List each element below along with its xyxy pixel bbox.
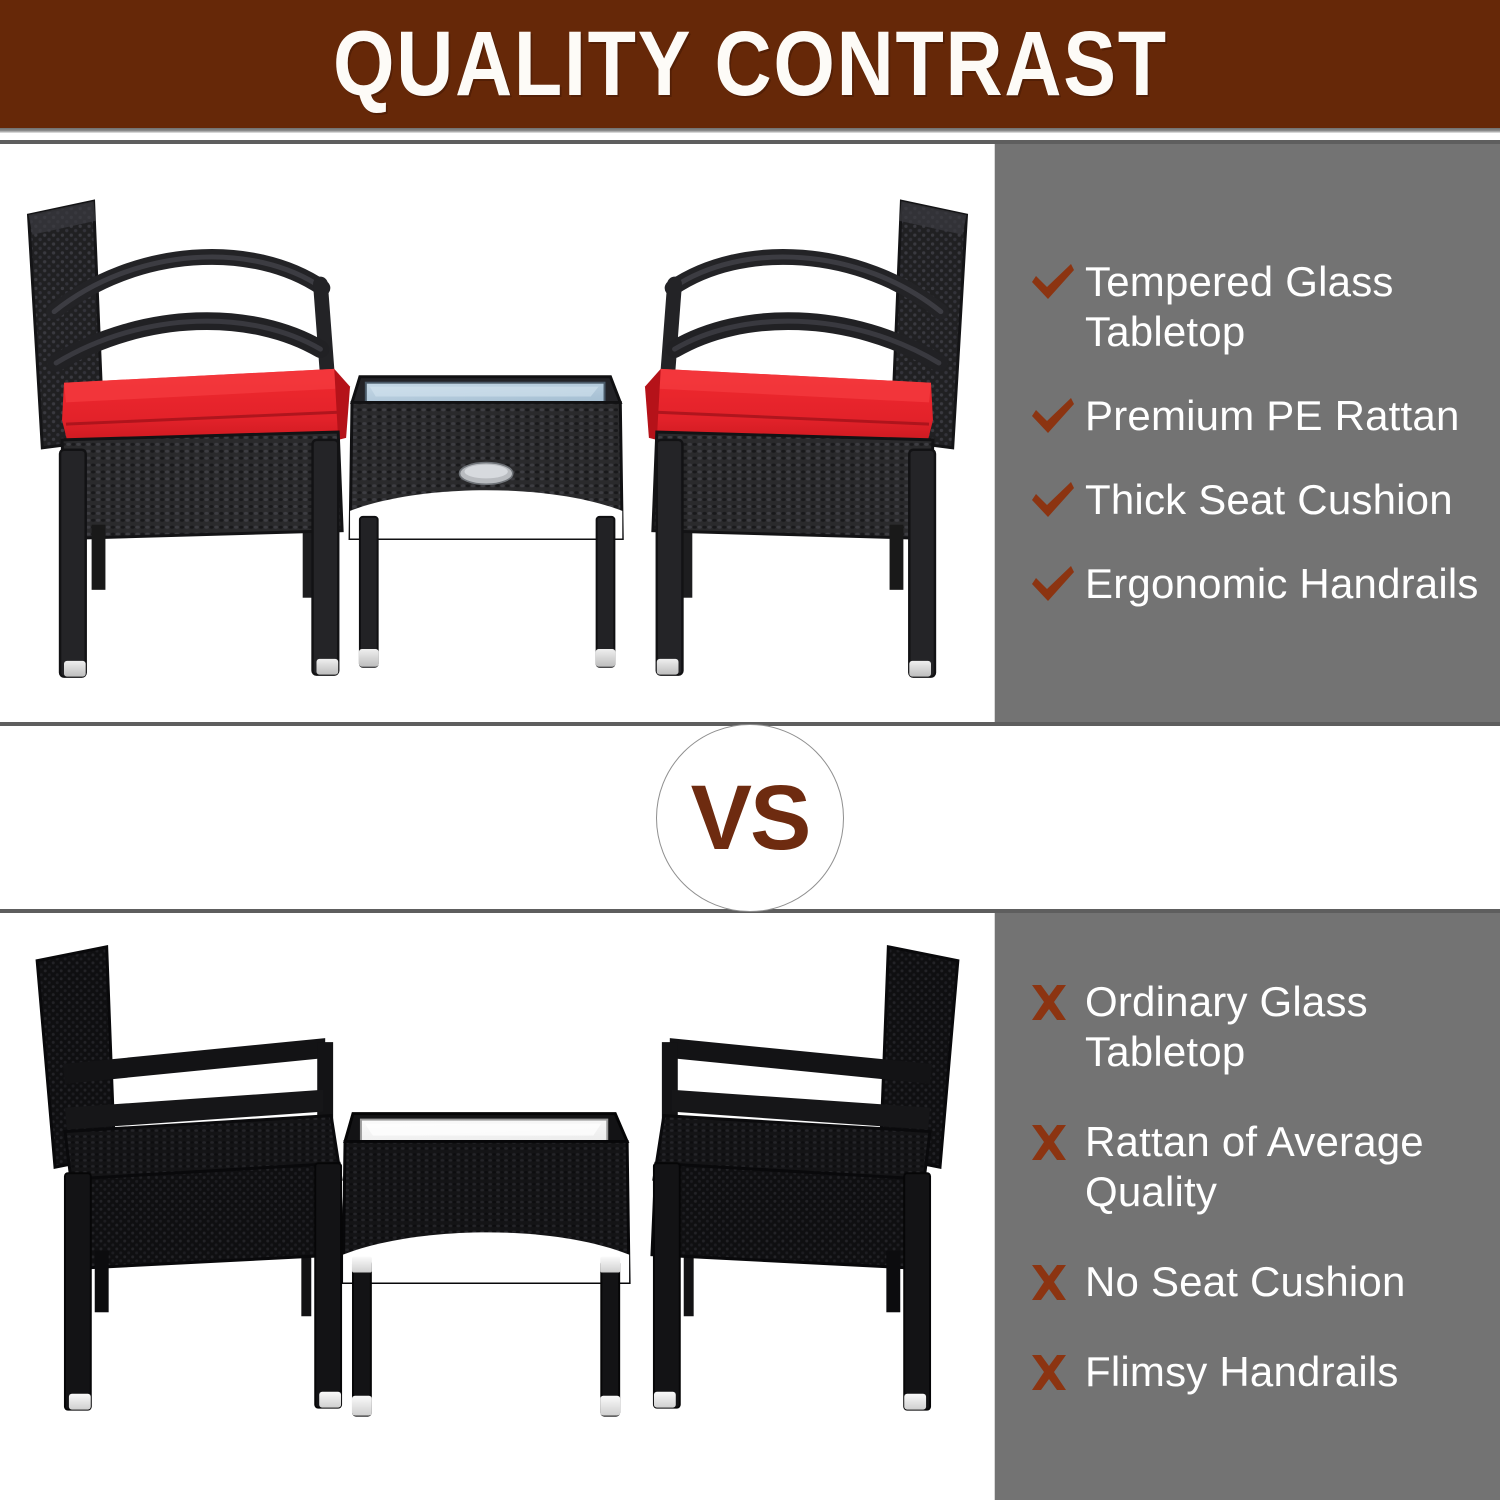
page-title: QUALITY CONTRAST	[333, 18, 1168, 110]
header-banner: QUALITY CONTRAST	[0, 0, 1500, 128]
ordinary-chair-right	[652, 947, 958, 1410]
specs-panel-ordinary: Ordinary Glass Tabletop Rattan of Averag…	[995, 913, 1500, 1500]
premium-chair-right	[645, 201, 967, 676]
comparison-panel-ordinary: Ordinary Glass Tabletop Rattan of Averag…	[0, 909, 1500, 1500]
premium-glass-table	[350, 377, 622, 667]
cross-icon	[1029, 1117, 1085, 1163]
feature-label: Thick Seat Cushion	[1085, 475, 1453, 525]
list-item: Thick Seat Cushion	[1029, 475, 1482, 525]
list-item: No Seat Cushion	[1029, 1257, 1482, 1307]
cross-icon	[1029, 1347, 1085, 1393]
product-photo-premium	[0, 144, 995, 722]
banner-shadow-divider	[0, 128, 1500, 133]
drawback-label: Flimsy Handrails	[1085, 1347, 1399, 1397]
list-item: Ordinary Glass Tabletop	[1029, 977, 1482, 1077]
drawback-label: Ordinary Glass Tabletop	[1085, 977, 1482, 1077]
feature-label: Ergonomic Handrails	[1085, 559, 1479, 609]
vs-divider-band: VS	[0, 726, 1500, 909]
premium-feature-list: Tempered Glass Tabletop Premium PE Ratta…	[995, 257, 1500, 609]
premium-chair-left	[28, 201, 350, 676]
list-item: Ergonomic Handrails	[1029, 559, 1482, 609]
cross-icon	[1029, 977, 1085, 1023]
list-item: Premium PE Rattan	[1029, 391, 1482, 441]
check-icon	[1029, 391, 1085, 437]
check-icon	[1029, 475, 1085, 521]
vs-label: VS	[691, 772, 810, 864]
list-item: Rattan of Average Quality	[1029, 1117, 1482, 1217]
specs-panel-premium: Tempered Glass Tabletop Premium PE Ratta…	[995, 144, 1500, 722]
list-item: Flimsy Handrails	[1029, 1347, 1482, 1397]
vs-badge: VS	[656, 724, 844, 912]
premium-furniture-illustration	[0, 144, 995, 722]
feature-label: Tempered Glass Tabletop	[1085, 257, 1482, 357]
comparison-panel-premium: Tempered Glass Tabletop Premium PE Ratta…	[0, 140, 1500, 726]
list-item: Tempered Glass Tabletop	[1029, 257, 1482, 357]
drawback-label: No Seat Cushion	[1085, 1257, 1406, 1307]
ordinary-furniture-illustration	[0, 913, 995, 1500]
drawback-label: Rattan of Average Quality	[1085, 1117, 1482, 1217]
ordinary-glass-table	[343, 1114, 629, 1416]
check-icon	[1029, 559, 1085, 605]
check-icon	[1029, 257, 1085, 303]
ordinary-drawback-list: Ordinary Glass Tabletop Rattan of Averag…	[995, 977, 1500, 1437]
infographic-page: QUALITY CONTRAST	[0, 0, 1500, 1500]
feature-label: Premium PE Rattan	[1085, 391, 1460, 441]
cross-icon	[1029, 1257, 1085, 1303]
product-photo-ordinary	[0, 913, 995, 1500]
ordinary-chair-left	[37, 947, 343, 1410]
